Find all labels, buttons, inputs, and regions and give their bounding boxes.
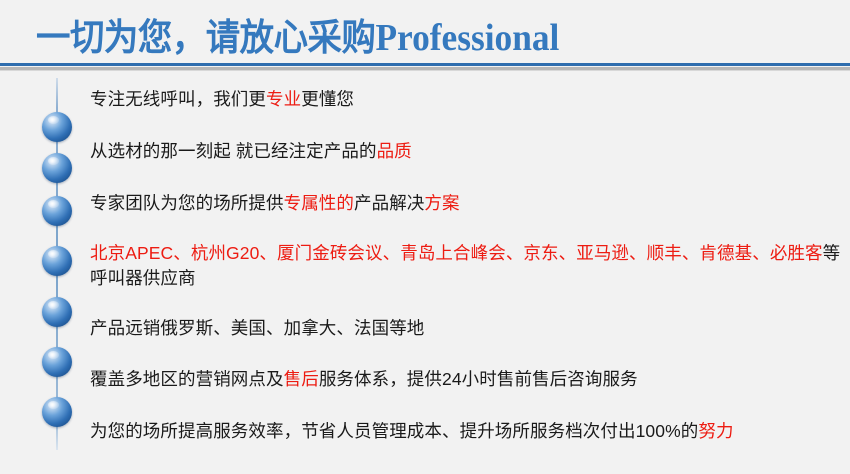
bullet-3-seg-2-highlight: 专属性的 <box>284 193 354 213</box>
bullet-7-seg-2-highlight: 努力 <box>698 421 733 441</box>
bullet-2-seg-1: 从选材的那一刻起 就已经注定产品的 <box>90 141 377 161</box>
bullet-2-seg-2-highlight: 品质 <box>377 141 412 161</box>
title-divider-blue <box>0 63 850 66</box>
slide-canvas: 一切为您，请放心采购Professional 专注无线呼叫，我们更专业更懂您 从… <box>0 0 850 474</box>
sphere-bullet-icon-4 <box>42 246 72 276</box>
sphere-bullet-icon-5 <box>42 297 72 327</box>
bullet-6-seg-2-highlight: 售后 <box>284 369 319 389</box>
sphere-bullet-icon-3 <box>42 196 72 226</box>
bullet-1-seg-3: 更懂您 <box>301 89 354 109</box>
bullet-1-seg-2-highlight: 专业 <box>266 89 301 109</box>
bullet-line-4: 北京APEC、杭州G20、厦门金砖会议、青岛上合峰会、京东、亚马逊、顺丰、肯德基… <box>90 241 842 291</box>
bullet-5-seg-1: 产品远销俄罗斯、美国、加拿大、法国等地 <box>90 318 424 338</box>
bullet-line-3: 专家团队为您的场所提供专属性的产品解决方案 <box>90 191 460 216</box>
bullet-7-seg-1: 为您的场所提高服务效率，节省人员管理成本、提升场所服务档次付出100%的 <box>90 421 698 441</box>
bullet-line-7: 为您的场所提高服务效率，节省人员管理成本、提升场所服务档次付出100%的努力 <box>90 419 842 444</box>
sphere-bullet-icon-6 <box>42 347 72 377</box>
bullet-line-6: 覆盖多地区的营销网点及售后服务体系，提供24小时售前售后咨询服务 <box>90 367 638 392</box>
title-divider-gray-soft <box>0 70 850 71</box>
sphere-bullet-icon-2 <box>42 153 72 183</box>
bullet-3-seg-4-highlight: 方案 <box>424 193 459 213</box>
page-title: 一切为您，请放心采购Professional <box>36 16 559 60</box>
bullet-line-5: 产品远销俄罗斯、美国、加拿大、法国等地 <box>90 316 424 341</box>
bullet-6-seg-1: 覆盖多地区的营销网点及 <box>90 369 284 389</box>
page-title-zh: 一切为您，请放心采购 <box>36 17 375 58</box>
bullet-3-seg-3: 产品解决 <box>354 193 424 213</box>
bullet-line-2: 从选材的那一刻起 就已经注定产品的品质 <box>90 139 412 164</box>
page-title-latin: Professional <box>375 17 559 59</box>
sphere-bullet-icon-1 <box>42 112 72 142</box>
bullet-1-seg-1: 专注无线呼叫，我们更 <box>90 89 266 109</box>
bullet-3-seg-1: 专家团队为您的场所提供 <box>90 193 284 213</box>
bullet-6-seg-3: 服务体系，提供24小时售前售后咨询服务 <box>319 369 638 389</box>
bullet-4-seg-1-highlight: 北京APEC、杭州G20、厦门金砖会议、青岛上合峰会、京东、亚马逊、顺丰、肯德基… <box>90 243 823 263</box>
bullet-line-1: 专注无线呼叫，我们更专业更懂您 <box>90 87 354 112</box>
title-block: 一切为您，请放心采购Professional <box>0 0 850 72</box>
sphere-bullet-icon-7 <box>42 397 72 427</box>
